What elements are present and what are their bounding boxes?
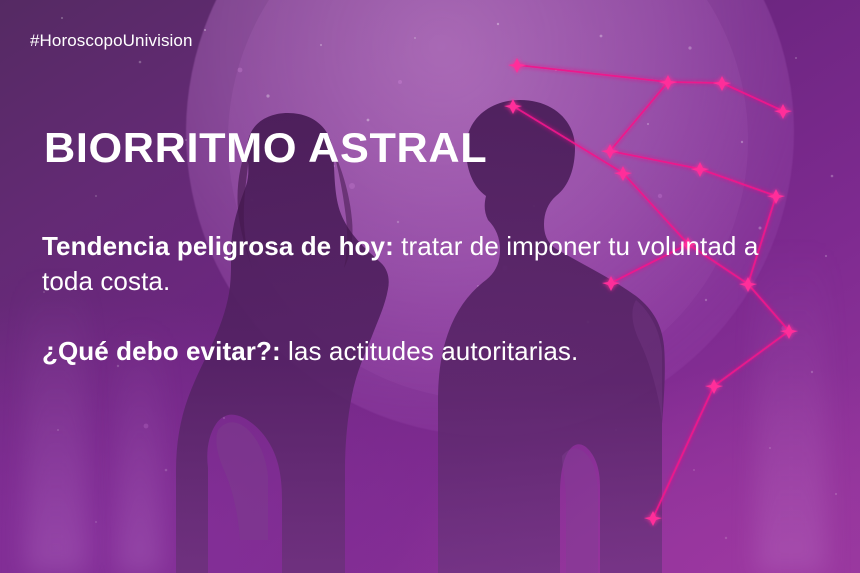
paragraph-evitar-lead: ¿Qué debo evitar?: xyxy=(42,336,281,366)
paragraph-tendencia: Tendencia peligrosa de hoy: tratar de im… xyxy=(42,229,810,298)
hashtag-label: #HoroscopoUnivision xyxy=(30,31,193,51)
page-title: BIORRITMO ASTRAL xyxy=(44,124,487,172)
horoscope-card: #HoroscopoUnivision BIORRITMO ASTRAL Ten… xyxy=(0,0,860,573)
paragraph-tendencia-lead: Tendencia peligrosa de hoy: xyxy=(42,231,394,261)
paragraph-evitar-rest: las actitudes autoritarias. xyxy=(281,336,579,366)
paragraph-evitar: ¿Qué debo evitar?: las actitudes autorit… xyxy=(42,334,810,369)
horoscope-body: Tendencia peligrosa de hoy: tratar de im… xyxy=(42,203,810,395)
